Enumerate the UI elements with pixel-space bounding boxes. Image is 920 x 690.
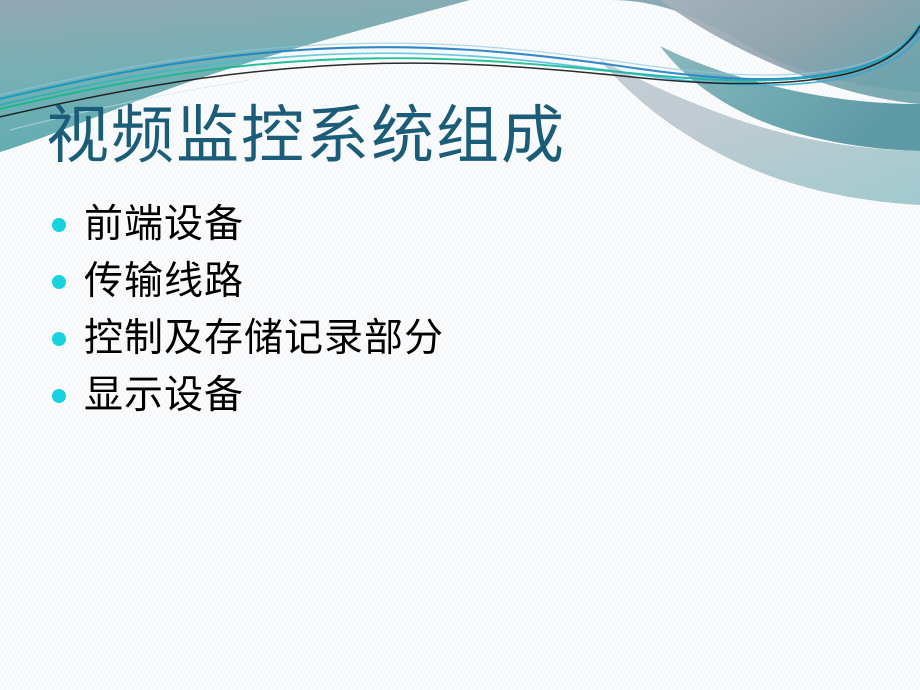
list-item[interactable]: 控制及存储记录部分 xyxy=(52,310,852,367)
list-item[interactable]: 前端设备 xyxy=(52,196,852,253)
list-item-label: 前端设备 xyxy=(84,205,244,244)
list-item-label: 显示设备 xyxy=(84,376,244,415)
bullet-dot-icon xyxy=(52,275,66,289)
list-item-label: 传输线路 xyxy=(84,262,244,301)
bullet-dot-icon xyxy=(52,389,66,403)
slide-content: 视频监控系统组成 前端设备 传输线路 控制及存储记录部分 显示设备 xyxy=(0,0,920,690)
list-item-label: 控制及存储记录部分 xyxy=(84,319,444,358)
list-item[interactable]: 传输线路 xyxy=(52,253,852,310)
bullet-dot-icon xyxy=(52,332,66,346)
slide-title: 视频监控系统组成 xyxy=(46,103,566,169)
presentation-slide: 视频监控系统组成 前端设备 传输线路 控制及存储记录部分 显示设备 xyxy=(0,0,920,690)
list-item[interactable]: 显示设备 xyxy=(52,367,852,424)
bullet-list: 前端设备 传输线路 控制及存储记录部分 显示设备 xyxy=(52,196,852,424)
bullet-dot-icon xyxy=(52,218,66,232)
